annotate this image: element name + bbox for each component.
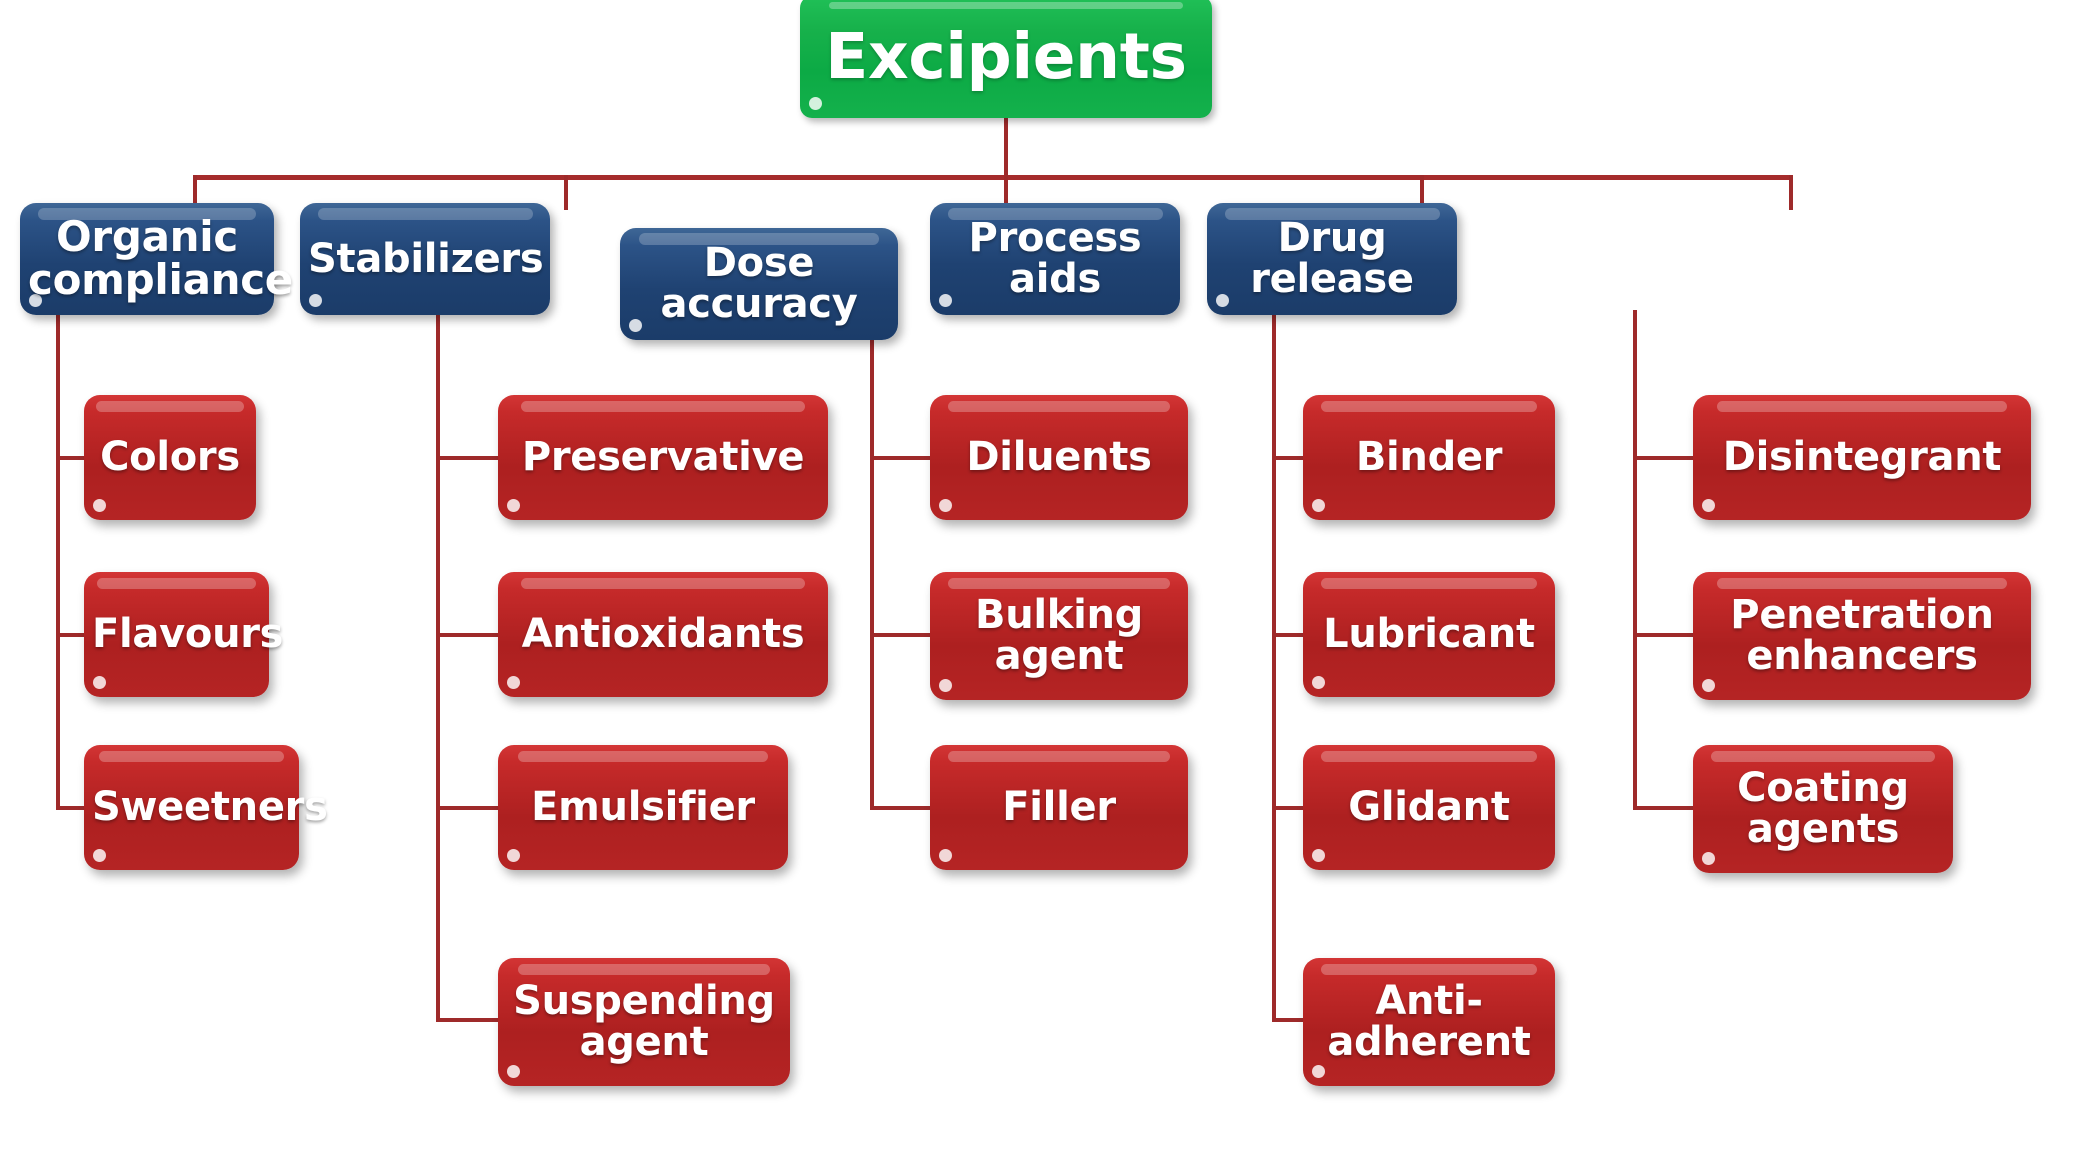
leaf-node-bullet-dot xyxy=(507,1065,520,1078)
leaf-node-highlight xyxy=(1321,578,1538,589)
leaf-node-bullet-dot xyxy=(1312,499,1325,512)
leaf-node-bullet-dot xyxy=(1702,499,1715,512)
connector-root-bus xyxy=(193,175,1793,180)
connector-branch-coating-agents xyxy=(1633,806,1695,810)
leaf-node-colors[interactable]: Colors xyxy=(84,395,256,520)
connector-branch-suspending-agent xyxy=(436,1018,501,1022)
category-node-organic-compliance[interactable]: Organic compliance xyxy=(20,203,274,315)
connector-branch-penetration-enhancers xyxy=(1633,633,1695,637)
category-node-label: Stabilizers xyxy=(308,239,542,280)
leaf-node-lubricant[interactable]: Lubricant xyxy=(1303,572,1555,697)
category-node-label: Drug release xyxy=(1215,218,1449,300)
connector-spine-process-aids xyxy=(1272,310,1276,1022)
leaf-node-highlight xyxy=(518,751,767,762)
leaf-node-flavours[interactable]: Flavours xyxy=(84,572,269,697)
leaf-node-bullet-dot xyxy=(1312,849,1325,862)
category-node-label: Dose accuracy xyxy=(628,243,890,325)
leaf-node-bullet-dot xyxy=(1702,679,1715,692)
connector-branch-filler xyxy=(870,806,932,810)
leaf-node-bullet-dot xyxy=(939,849,952,862)
leaf-node-label: Anti-adherent xyxy=(1311,981,1547,1063)
leaf-node-highlight xyxy=(521,578,805,589)
leaf-node-label: Suspending agent xyxy=(506,981,782,1063)
leaf-node-highlight xyxy=(1717,401,2008,412)
leaf-node-label: Sweetners xyxy=(92,787,291,828)
leaf-node-label: Flavours xyxy=(92,614,261,655)
leaf-node-bullet-dot xyxy=(507,676,520,689)
connector-branch-binder xyxy=(1272,456,1307,460)
category-node-dose-accuracy[interactable]: Dose accuracy xyxy=(620,228,898,340)
leaf-node-emulsifier[interactable]: Emulsifier xyxy=(498,745,788,870)
connector-branch-colors xyxy=(56,456,86,460)
leaf-node-highlight xyxy=(948,578,1170,589)
connector-branch-bulking-agent xyxy=(870,633,932,637)
connector-branch-flavours xyxy=(56,633,86,637)
leaf-node-bullet-dot xyxy=(1312,1065,1325,1078)
leaf-node-bulking-agent[interactable]: Bulking agent xyxy=(930,572,1188,700)
leaf-node-label: Disintegrant xyxy=(1701,437,2023,478)
leaf-node-bullet-dot xyxy=(939,679,952,692)
leaf-node-highlight xyxy=(1321,751,1538,762)
leaf-node-highlight xyxy=(1321,964,1538,975)
leaf-node-binder[interactable]: Binder xyxy=(1303,395,1555,520)
connector-branch-glidant xyxy=(1272,806,1307,810)
leaf-node-highlight xyxy=(1711,751,1935,762)
leaf-node-highlight xyxy=(99,751,284,762)
root-node-highlight xyxy=(829,2,1183,9)
leaf-node-filler[interactable]: Filler xyxy=(930,745,1188,870)
category-node-label: Process aids xyxy=(938,218,1172,300)
connector-branch-lubricant xyxy=(1272,633,1307,637)
connector-branch-disintegrant xyxy=(1633,456,1695,460)
leaf-node-anti-adherent[interactable]: Anti-adherent xyxy=(1303,958,1555,1086)
connector-root-stem xyxy=(1004,118,1008,178)
leaf-node-bullet-dot xyxy=(93,499,106,512)
leaf-node-highlight xyxy=(948,751,1170,762)
leaf-node-disintegrant[interactable]: Disintegrant xyxy=(1693,395,2031,520)
leaf-node-highlight xyxy=(97,578,256,589)
leaf-node-label: Glidant xyxy=(1311,787,1547,828)
connector-branch-anti-adherent xyxy=(1272,1018,1307,1022)
leaf-node-sweetners[interactable]: Sweetners xyxy=(84,745,299,870)
leaf-node-bullet-dot xyxy=(1312,676,1325,689)
root-node-bullet-dot xyxy=(809,97,822,110)
leaf-node-label: Penetration enhancers xyxy=(1701,595,2023,677)
leaf-node-antioxidants[interactable]: Antioxidants xyxy=(498,572,828,697)
root-node-excipients[interactable]: Excipients xyxy=(800,0,1212,118)
leaf-node-penetration-enhancers[interactable]: Penetration enhancers xyxy=(1693,572,2031,700)
connector-spine-organic-compliance xyxy=(56,310,60,810)
category-node-highlight xyxy=(318,208,533,220)
leaf-node-glidant[interactable]: Glidant xyxy=(1303,745,1555,870)
excipients-diagram-canvas: Excipients Organic compliance Stabilizer… xyxy=(0,0,2079,1152)
leaf-node-label: Antioxidants xyxy=(506,614,820,655)
connector-branch-preservative xyxy=(436,456,501,460)
leaf-node-bullet-dot xyxy=(507,849,520,862)
leaf-node-highlight xyxy=(521,401,805,412)
category-node-drug-release[interactable]: Drug release xyxy=(1207,203,1457,315)
leaf-node-label: Bulking agent xyxy=(938,595,1180,677)
leaf-node-preservative[interactable]: Preservative xyxy=(498,395,828,520)
leaf-node-label: Binder xyxy=(1311,437,1547,478)
leaf-node-suspending-agent[interactable]: Suspending agent xyxy=(498,958,790,1086)
leaf-node-bullet-dot xyxy=(507,499,520,512)
leaf-node-highlight xyxy=(1321,401,1538,412)
leaf-node-highlight xyxy=(948,401,1170,412)
leaf-node-diluents[interactable]: Diluents xyxy=(930,395,1188,520)
leaf-node-label: Preservative xyxy=(506,437,820,478)
leaf-node-highlight xyxy=(96,401,244,412)
connector-branch-antioxidants xyxy=(436,633,501,637)
leaf-node-bullet-dot xyxy=(939,499,952,512)
leaf-node-bullet-dot xyxy=(93,676,106,689)
connector-spine-drug-release xyxy=(1633,310,1637,810)
leaf-node-highlight xyxy=(518,964,769,975)
leaf-node-label: Filler xyxy=(938,787,1180,828)
category-node-process-aids[interactable]: Process aids xyxy=(930,203,1180,315)
connector-spine-dose-accuracy xyxy=(870,335,874,810)
connector-branch-diluents xyxy=(870,456,932,460)
connector-branch-sweetners xyxy=(56,806,86,810)
leaf-node-bullet-dot xyxy=(1702,852,1715,865)
category-node-bullet-dot xyxy=(309,294,322,307)
leaf-node-highlight xyxy=(1717,578,2008,589)
category-node-label: Organic compliance xyxy=(28,216,266,302)
leaf-node-label: Colors xyxy=(92,437,248,478)
leaf-node-label: Diluents xyxy=(938,437,1180,478)
connector-branch-emulsifier xyxy=(436,806,501,810)
category-node-stabilizers[interactable]: Stabilizers xyxy=(300,203,550,315)
root-node-label: Excipients xyxy=(808,25,1204,89)
leaf-node-bullet-dot xyxy=(93,849,106,862)
leaf-node-coating-agents[interactable]: Coating agents xyxy=(1693,745,1953,873)
connector-drop-stabilizers xyxy=(564,175,568,210)
connector-spine-stabilizers xyxy=(436,310,440,1022)
leaf-node-label: Lubricant xyxy=(1311,614,1547,655)
connector-drop-drug-release xyxy=(1789,175,1793,210)
leaf-node-label: Coating agents xyxy=(1701,768,1945,850)
leaf-node-label: Emulsifier xyxy=(506,787,780,828)
